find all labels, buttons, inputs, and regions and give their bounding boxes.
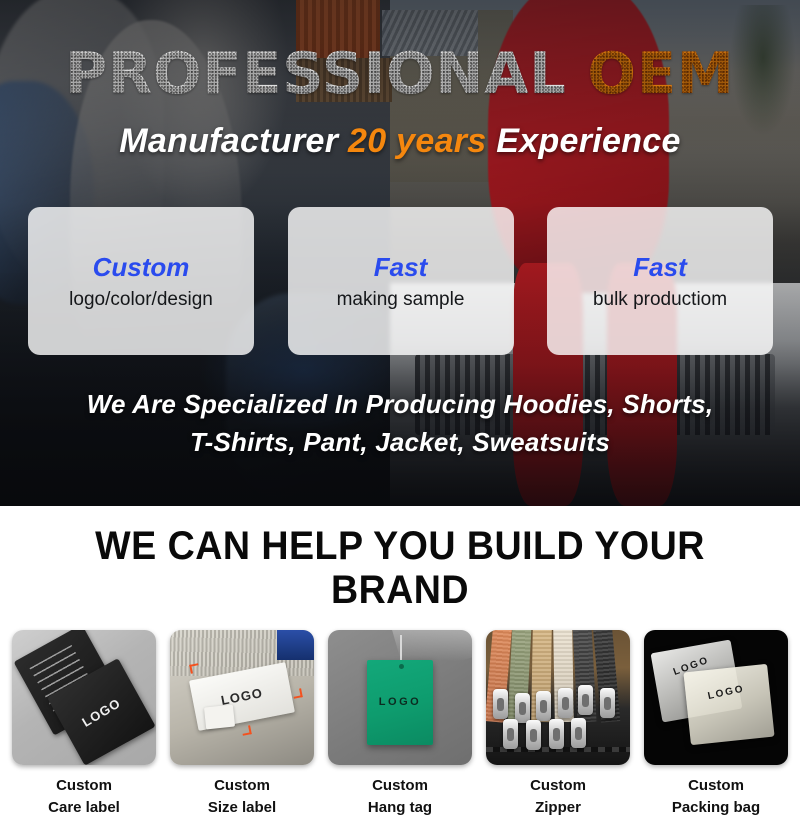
packing-bag-logo-text: LOGO xyxy=(707,683,746,702)
subheadline-manufacturer: Manufacturer xyxy=(119,122,338,160)
thumbnail-caption: Custom Zipper xyxy=(486,775,630,819)
feature-card-fast-sample[interactable]: Fast making sample xyxy=(288,207,514,355)
packing-bag-image: LOGO LOGO xyxy=(644,630,788,765)
size-label-image: LOGO xyxy=(170,630,314,765)
packing-bag-back: LOGO xyxy=(684,664,775,745)
zipper-pull xyxy=(600,688,615,718)
thumbnail-size-label[interactable]: LOGO Custom Size label xyxy=(170,630,314,819)
size-label-corner-marker xyxy=(241,726,252,737)
zipper-pull xyxy=(549,719,564,749)
feature-card-title: Fast xyxy=(374,254,427,280)
size-label-corner-marker xyxy=(293,689,304,700)
size-label-fold xyxy=(203,704,234,728)
care-label-image: LOGO xyxy=(12,630,156,765)
specialization-line-2: T-Shirts, Pant, Jacket, Sweatsuits xyxy=(0,424,800,462)
thumbnail-caption: Custom Hang tag xyxy=(328,775,472,819)
headline-professional: PROFESSIONAL xyxy=(65,41,566,107)
customization-thumbnails: LOGO Custom Care label LOGO xyxy=(0,630,800,819)
zipper-pull xyxy=(526,720,541,750)
zipper-pull xyxy=(578,685,593,715)
hero-content: PROFESSIONAL OEM Manufacturer 20 years E… xyxy=(0,0,800,506)
brand-section: WE CAN HELP YOU BUILD YOUR BRAND LOGO Cu… xyxy=(0,506,800,800)
caption-line-2: Size label xyxy=(170,797,314,819)
feature-card-subtitle: logo/color/design xyxy=(69,290,213,309)
hero-subheadline: Manufacturer 20 years Experience xyxy=(0,122,800,161)
caption-line-2: Zipper xyxy=(486,797,630,819)
zipper-pull xyxy=(571,718,586,748)
zipper-pull xyxy=(536,691,551,721)
feature-card-subtitle: bulk productiom xyxy=(593,290,727,309)
thumbnail-zipper[interactable]: Custom Zipper xyxy=(486,630,630,819)
zipper-image xyxy=(486,630,630,765)
hero-section: PROFESSIONAL OEM Manufacturer 20 years E… xyxy=(0,0,800,506)
caption-line-2: Care label xyxy=(12,797,156,819)
specialization-text: We Are Specialized In Producing Hoodies,… xyxy=(0,386,800,461)
promo-banner: PROFESSIONAL OEM Manufacturer 20 years E… xyxy=(0,0,800,800)
brand-section-title: WE CAN HELP YOU BUILD YOUR BRAND xyxy=(24,524,776,612)
zipper-pull xyxy=(493,689,508,719)
thumbnail-care-label[interactable]: LOGO Custom Care label xyxy=(12,630,156,819)
subheadline-years-accent: 20 years xyxy=(348,122,487,160)
caption-line-1: Custom xyxy=(170,775,314,797)
hero-headline: PROFESSIONAL OEM xyxy=(0,46,800,103)
caption-line-1: Custom xyxy=(644,775,788,797)
caption-line-1: Custom xyxy=(12,775,156,797)
caption-line-2: Packing bag xyxy=(644,797,788,819)
feature-card-title: Custom xyxy=(93,254,190,280)
thumbnail-caption: Custom Care label xyxy=(12,775,156,819)
caption-line-1: Custom xyxy=(328,775,472,797)
zipper-pull xyxy=(515,693,530,723)
subheadline-experience: Experience xyxy=(496,122,680,160)
thumbnail-hang-tag[interactable]: LOGO Custom Hang tag xyxy=(328,630,472,819)
zipper-pull xyxy=(558,688,573,718)
hang-tag-card: LOGO xyxy=(367,660,433,745)
feature-card-custom[interactable]: Custom logo/color/design xyxy=(28,207,254,355)
caption-line-1: Custom xyxy=(486,775,630,797)
headline-oem: OEM xyxy=(588,41,735,107)
feature-card-subtitle: making sample xyxy=(337,290,465,309)
feature-cards: Custom logo/color/design Fast making sam… xyxy=(28,207,773,355)
zipper-pull xyxy=(503,719,518,749)
size-label-corner-marker xyxy=(189,663,200,674)
feature-card-fast-bulk[interactable]: Fast bulk productiom xyxy=(547,207,773,355)
thumbnail-caption: Custom Packing bag xyxy=(644,775,788,819)
hang-tag-logo-text: LOGO xyxy=(379,696,421,708)
care-label-logo-text: LOGO xyxy=(79,695,123,730)
feature-card-title: Fast xyxy=(633,254,686,280)
thumbnail-packing-bag[interactable]: LOGO LOGO Custom Packing bag xyxy=(644,630,788,819)
thumbnail-caption: Custom Size label xyxy=(170,775,314,819)
caption-line-2: Hang tag xyxy=(328,797,472,819)
specialization-line-1: We Are Specialized In Producing Hoodies,… xyxy=(0,386,800,424)
hang-tag-image: LOGO xyxy=(328,630,472,765)
